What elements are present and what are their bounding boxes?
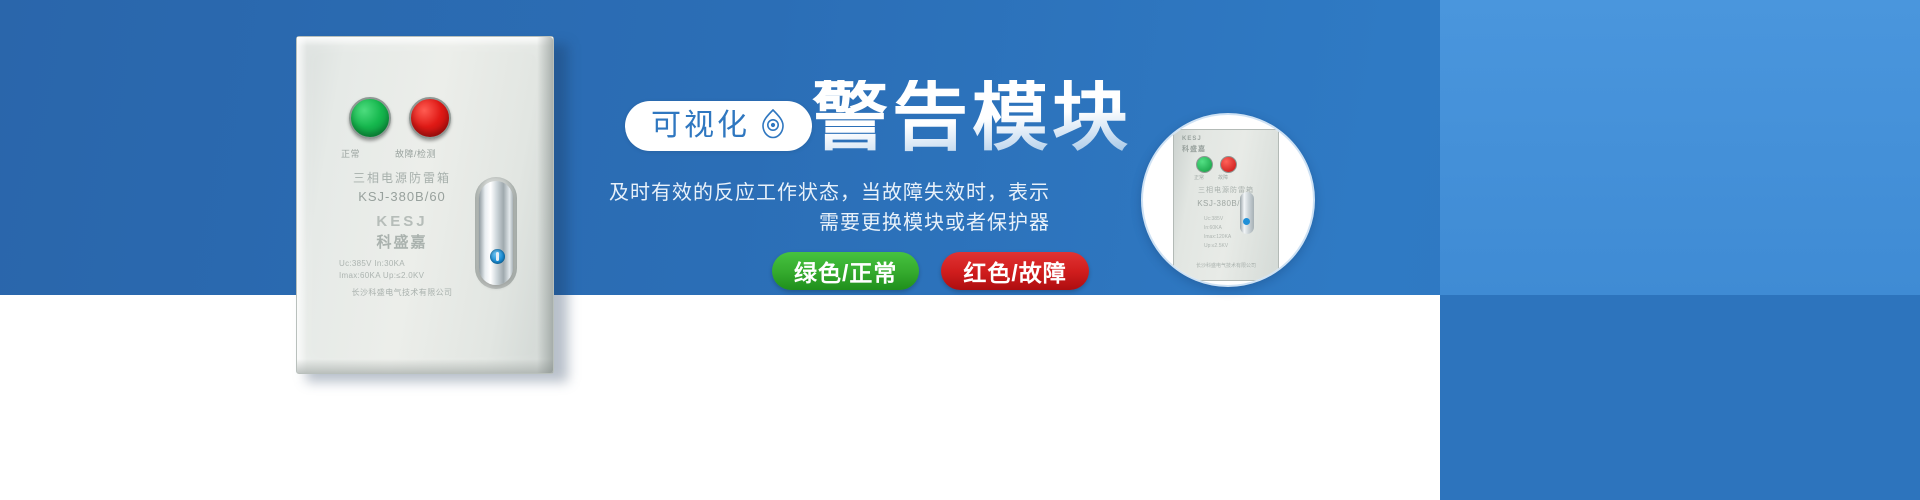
inset-spec-line-3: Imax:120KA bbox=[1204, 234, 1231, 240]
red-indicator bbox=[409, 97, 451, 139]
product-brand-en: KESJ bbox=[327, 213, 477, 230]
inset-lock-keyhole-icon bbox=[1243, 218, 1250, 225]
status-badge-normal: 绿色/正常 bbox=[772, 252, 919, 290]
banner-stage: 正常 故障/检测 三相电源防雷箱 KSJ-380B/60 KESJ 科盛嘉 Uc… bbox=[0, 0, 1920, 500]
enclosure-right-shade bbox=[537, 37, 553, 373]
inset-brand-cn: 科盛嘉 bbox=[1182, 144, 1206, 154]
inset-product-circle: KESJ 科盛嘉 正常 故障 三相电源防雷箱 KSJ-380B/120 Uc:3… bbox=[1141, 113, 1315, 287]
status-badge-fault: 红色/故障 bbox=[941, 252, 1088, 290]
background-top-right-band bbox=[1440, 0, 1920, 295]
page-title: 警告模块 bbox=[812, 80, 1132, 156]
product-company: 长沙科盛电气技术有限公司 bbox=[317, 287, 487, 298]
inset-green-indicator-label: 正常 bbox=[1194, 174, 1204, 181]
green-indicator-label: 正常 bbox=[341, 147, 360, 160]
product-model: KSJ-380B/60 bbox=[327, 189, 477, 204]
product-title: 三相电源防雷箱 bbox=[327, 169, 477, 186]
red-indicator-label: 故障/检测 bbox=[395, 147, 436, 160]
inset-red-indicator bbox=[1220, 156, 1237, 173]
inset-spec-line-1: Uc:385V bbox=[1204, 216, 1223, 222]
location-pin-icon bbox=[760, 109, 786, 144]
inset-spec-line-4: Up:≤2.5KV bbox=[1204, 243, 1228, 249]
enclosure-left-highlight bbox=[297, 37, 307, 373]
product-spec-line-1: Uc:385V In:30KA bbox=[339, 259, 479, 268]
visualization-pill: 可视化 bbox=[625, 101, 812, 151]
door-handle bbox=[479, 181, 513, 285]
inset-company: 长沙科盛电气技术有限公司 bbox=[1174, 262, 1278, 269]
subtitle-line-2: 需要更换模块或者保护器 bbox=[819, 206, 1050, 235]
enclosure-top-highlight bbox=[297, 37, 553, 46]
inset-red-indicator-label: 故障 bbox=[1218, 174, 1228, 181]
inset-enclosure: KESJ 科盛嘉 正常 故障 三相电源防雷箱 KSJ-380B/120 Uc:3… bbox=[1173, 129, 1279, 281]
enclosure-body: 正常 故障/检测 三相电源防雷箱 KSJ-380B/60 KESJ 科盛嘉 Uc… bbox=[296, 36, 554, 374]
product-photo: 正常 故障/检测 三相电源防雷箱 KSJ-380B/60 KESJ 科盛嘉 Uc… bbox=[296, 36, 554, 374]
green-indicator bbox=[349, 97, 391, 139]
inset-green-indicator bbox=[1196, 156, 1213, 173]
inset-product-title: 三相电源防雷箱 bbox=[1174, 185, 1278, 195]
inset-brand-en: KESJ bbox=[1182, 136, 1202, 142]
inset-door-handle bbox=[1240, 192, 1254, 234]
status-badge-group: 绿色/正常 红色/故障 bbox=[772, 252, 1089, 290]
background-blue-band-right bbox=[1440, 295, 1920, 500]
inset-spec-line-2: In:60KA bbox=[1204, 225, 1222, 231]
subtitle-line-1: 及时有效的反应工作状态，当故障失效时，表示 bbox=[609, 176, 1050, 205]
lock-keyhole-icon bbox=[490, 249, 505, 264]
enclosure-bottom-shade bbox=[297, 359, 553, 373]
product-brand-cn: 科盛嘉 bbox=[327, 231, 477, 252]
background-white-band bbox=[0, 295, 1440, 500]
inset-product-model: KSJ-380B/120 bbox=[1174, 199, 1278, 208]
visualization-pill-label: 可视化 bbox=[651, 111, 750, 141]
product-spec-line-2: Imax:60KA Up:≤2.0KV bbox=[339, 271, 479, 280]
